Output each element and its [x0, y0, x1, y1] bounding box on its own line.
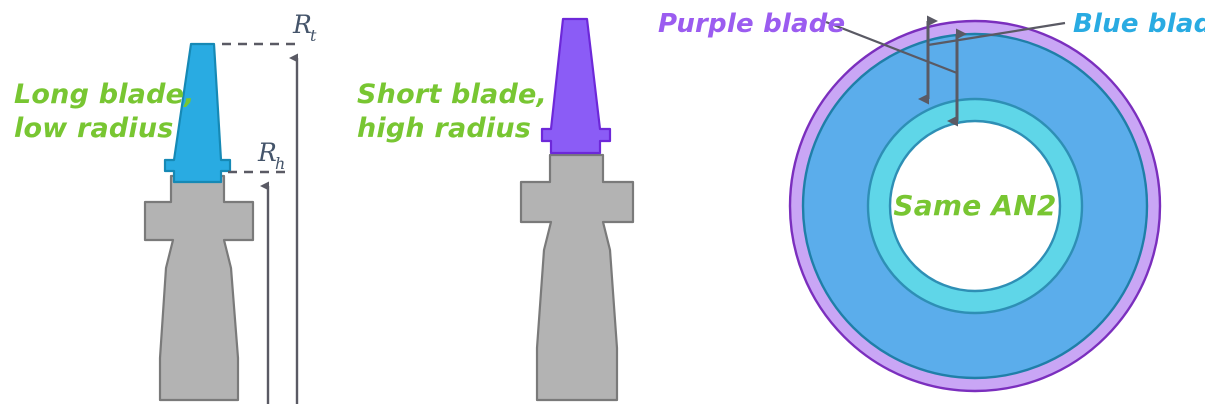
blue-blade-root	[145, 176, 253, 400]
annulus-diagram: Same AN2 Purple blade Blue blade	[658, 9, 1205, 391]
left-blade-assembly: Long blade, low radius R t R h	[14, 10, 317, 404]
left-blade-caption-line2: low radius	[14, 113, 174, 144]
purple-blade-root	[521, 155, 633, 400]
right-blade-caption-line2: high radius	[357, 113, 531, 144]
right-blade-assembly: Short blade, high radius	[357, 19, 633, 400]
annulus-purple-blade-label: Purple blade	[658, 9, 845, 39]
tip-radius-subscript: t	[310, 26, 317, 45]
right-blade-caption-line1: Short blade,	[357, 79, 547, 110]
purple-blade-airfoil	[542, 19, 610, 153]
left-blade-caption-line1: Long blade,	[14, 79, 195, 110]
annulus-blue-blade-label: Blue blade	[1073, 9, 1205, 39]
annulus-center-label: Same AN2	[893, 189, 1056, 222]
hub-radius-subscript: h	[275, 154, 285, 173]
turbine-blade-annulus-diagram: Long blade, low radius R t R h Short bla…	[0, 0, 1205, 406]
diagram-canvas: Long blade, low radius R t R h Short bla…	[0, 0, 1205, 406]
blue-blade-airfoil	[165, 44, 230, 182]
hub-radius-label: R	[257, 138, 277, 167]
tip-radius-label: R	[292, 10, 312, 39]
